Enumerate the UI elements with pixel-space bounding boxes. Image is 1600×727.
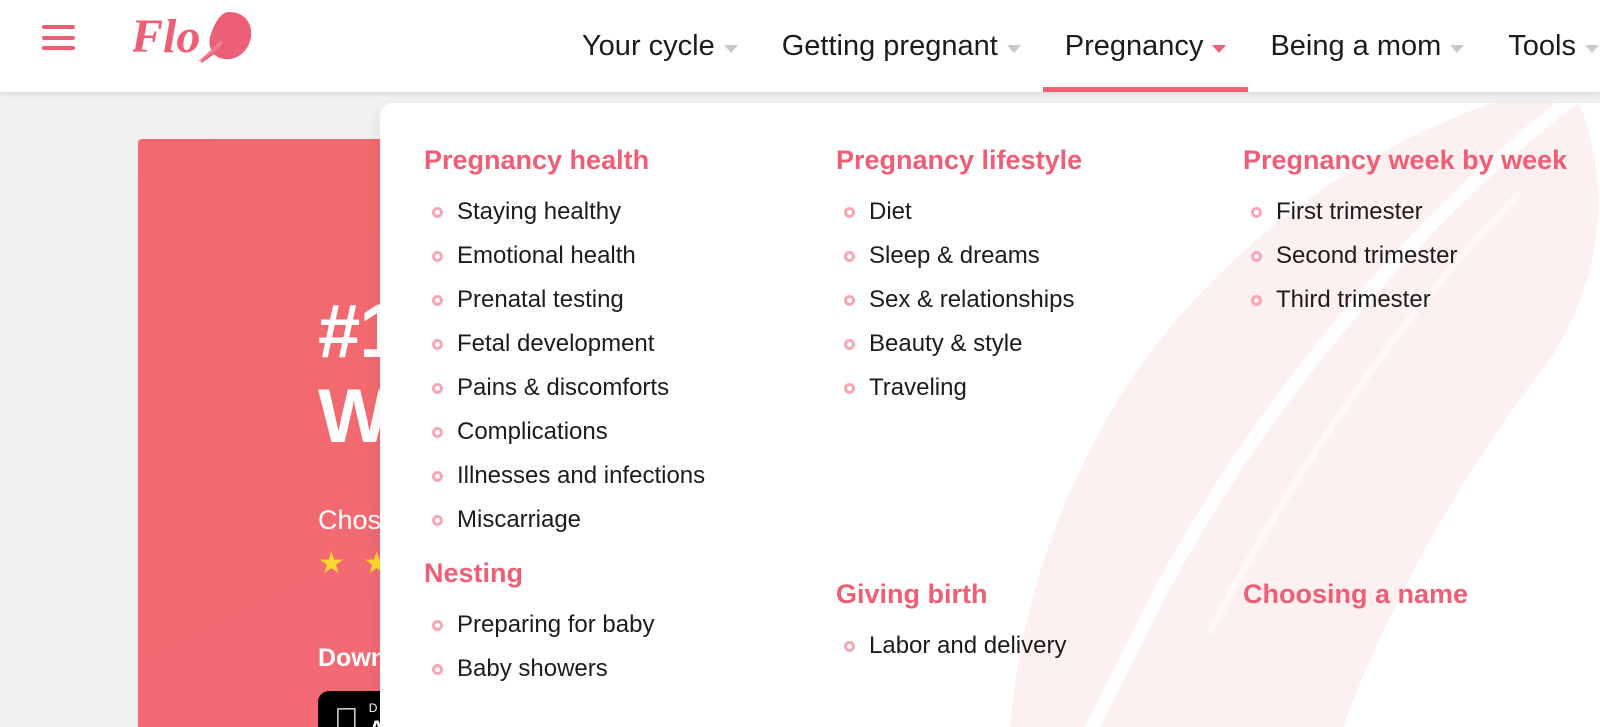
- bullet-icon: [432, 251, 443, 262]
- hamburger-bar: [42, 25, 75, 29]
- group-title: Choosing a name: [1243, 579, 1600, 610]
- flo-feather-logo[interactable]: Flo: [133, 6, 255, 68]
- group-title: Pregnancy week by week: [1243, 145, 1600, 176]
- mega-menu-column-3: Pregnancy week by week First trimester S…: [1243, 145, 1600, 699]
- hamburger-menu-icon[interactable]: [42, 25, 75, 50]
- bullet-icon: [432, 664, 443, 675]
- menu-item[interactable]: Illnesses and infections: [424, 462, 836, 490]
- group-pregnancy-lifestyle: Pregnancy lifestyle Diet Sleep & dreams …: [836, 145, 1243, 402]
- bullet-icon: [432, 383, 443, 394]
- group-list: Preparing for baby Baby showers: [424, 611, 836, 683]
- site-header: Flo Your cycle Getting pregnant Pregnanc…: [0, 0, 1600, 92]
- apple-logo-icon: : [334, 703, 359, 727]
- active-underline: [1043, 87, 1249, 92]
- group-nesting: Nesting Preparing for baby Baby showers: [424, 558, 836, 683]
- menu-item[interactable]: Labor and delivery: [836, 632, 1243, 660]
- bullet-icon: [1251, 207, 1262, 218]
- menu-item[interactable]: Miscarriage: [424, 506, 836, 534]
- menu-item[interactable]: Pains & discomforts: [424, 374, 836, 402]
- nav-label: Your cycle: [582, 30, 715, 63]
- menu-item[interactable]: Sleep & dreams: [836, 242, 1243, 270]
- menu-item[interactable]: Third trimester: [1243, 286, 1600, 314]
- page-root: #1 W Chos ★ ★ Down  D A Pregnancy: [0, 0, 1600, 727]
- bullet-icon: [1251, 295, 1262, 306]
- main-nav: Your cycle Getting pregnant Pregnancy Be…: [560, 0, 1600, 92]
- chevron-down-icon: [1585, 45, 1599, 53]
- chevron-down-icon: [1007, 45, 1021, 53]
- group-choosing-a-name[interactable]: Choosing a name: [1243, 579, 1600, 610]
- group-list: Labor and delivery: [836, 632, 1243, 660]
- menu-item[interactable]: Staying healthy: [424, 198, 836, 226]
- pregnancy-mega-menu: Pregnancy health Staying healthy Emotion…: [380, 103, 1600, 727]
- chevron-down-icon: [1212, 45, 1226, 53]
- menu-item[interactable]: Sex & relationships: [836, 286, 1243, 314]
- bullet-icon: [432, 295, 443, 306]
- group-title: Giving birth: [836, 579, 1243, 610]
- nav-item-being-a-mom[interactable]: Being a mom: [1248, 0, 1486, 92]
- nav-item-pregnancy[interactable]: Pregnancy: [1043, 0, 1249, 92]
- mega-menu-column-2: Pregnancy lifestyle Diet Sleep & dreams …: [836, 145, 1243, 699]
- bullet-icon: [844, 641, 855, 652]
- nav-label: Being a mom: [1270, 30, 1441, 63]
- group-title: Pregnancy health: [424, 145, 836, 176]
- bullet-icon: [844, 207, 855, 218]
- bullet-icon: [432, 427, 443, 438]
- bullet-icon: [844, 383, 855, 394]
- chevron-down-icon: [724, 45, 738, 53]
- hamburger-bar: [42, 36, 75, 40]
- nav-item-tools[interactable]: Tools: [1486, 0, 1600, 92]
- menu-item[interactable]: Diet: [836, 198, 1243, 226]
- nav-item-getting-pregnant[interactable]: Getting pregnant: [760, 0, 1043, 92]
- menu-item[interactable]: First trimester: [1243, 198, 1600, 226]
- chevron-down-icon: [1450, 45, 1464, 53]
- bullet-icon: [844, 295, 855, 306]
- group-week-by-week: Pregnancy week by week First trimester S…: [1243, 145, 1600, 314]
- nav-label: Getting pregnant: [782, 30, 998, 63]
- group-title: Nesting: [424, 558, 836, 589]
- menu-item[interactable]: Baby showers: [424, 655, 836, 683]
- hamburger-bar: [42, 46, 75, 50]
- menu-item[interactable]: Emotional health: [424, 242, 836, 270]
- group-list: Staying healthy Emotional health Prenata…: [424, 198, 836, 534]
- menu-item[interactable]: Complications: [424, 418, 836, 446]
- group-title: Pregnancy lifestyle: [836, 145, 1243, 176]
- bullet-icon: [432, 339, 443, 350]
- bullet-icon: [844, 339, 855, 350]
- menu-item[interactable]: Second trimester: [1243, 242, 1600, 270]
- group-giving-birth: Giving birth Labor and delivery: [836, 579, 1243, 660]
- group-list: First trimester Second trimester Third t…: [1243, 198, 1600, 314]
- bullet-icon: [432, 471, 443, 482]
- menu-item[interactable]: Beauty & style: [836, 330, 1243, 358]
- mega-menu-column-1: Pregnancy health Staying healthy Emotion…: [424, 145, 836, 699]
- menu-item[interactable]: Traveling: [836, 374, 1243, 402]
- svg-text:Flo: Flo: [133, 10, 200, 63]
- bullet-icon: [432, 620, 443, 631]
- nav-item-your-cycle[interactable]: Your cycle: [560, 0, 760, 92]
- menu-item[interactable]: Fetal development: [424, 330, 836, 358]
- bullet-icon: [432, 207, 443, 218]
- mega-menu-grid: Pregnancy health Staying healthy Emotion…: [380, 103, 1600, 699]
- bullet-icon: [432, 515, 443, 526]
- group-pregnancy-health: Pregnancy health Staying healthy Emotion…: [424, 145, 836, 534]
- menu-item[interactable]: Prenatal testing: [424, 286, 836, 314]
- nav-label: Pregnancy: [1065, 30, 1204, 63]
- menu-item[interactable]: Preparing for baby: [424, 611, 836, 639]
- nav-label: Tools: [1508, 30, 1576, 63]
- bullet-icon: [844, 251, 855, 262]
- bullet-icon: [1251, 251, 1262, 262]
- group-list: Diet Sleep & dreams Sex & relationships …: [836, 198, 1243, 402]
